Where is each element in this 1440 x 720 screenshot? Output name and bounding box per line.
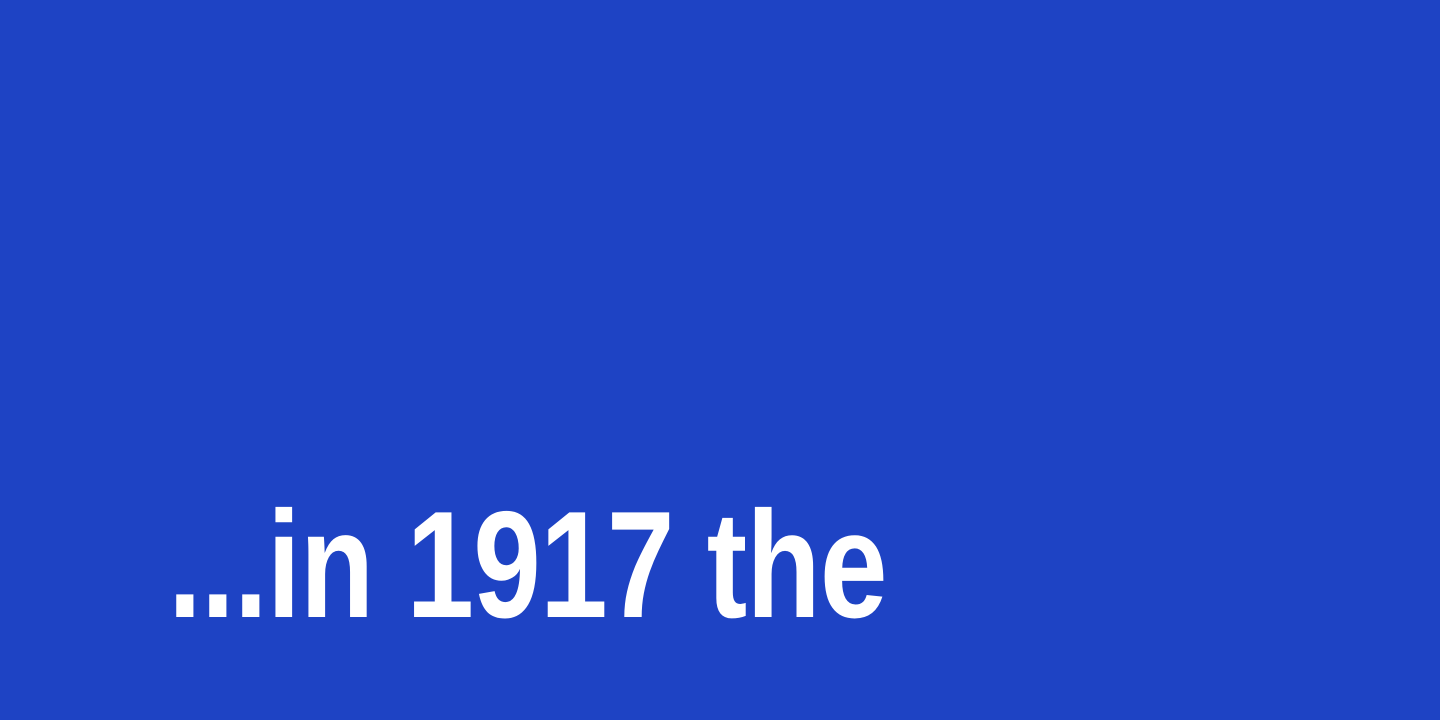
page-title: ...in 1917 the revolution started. [168,140,1048,720]
headline-line-1: ...in 1917 the [168,480,1048,650]
slide-canvas: ...in 1917 the revolution started. [0,0,1440,720]
